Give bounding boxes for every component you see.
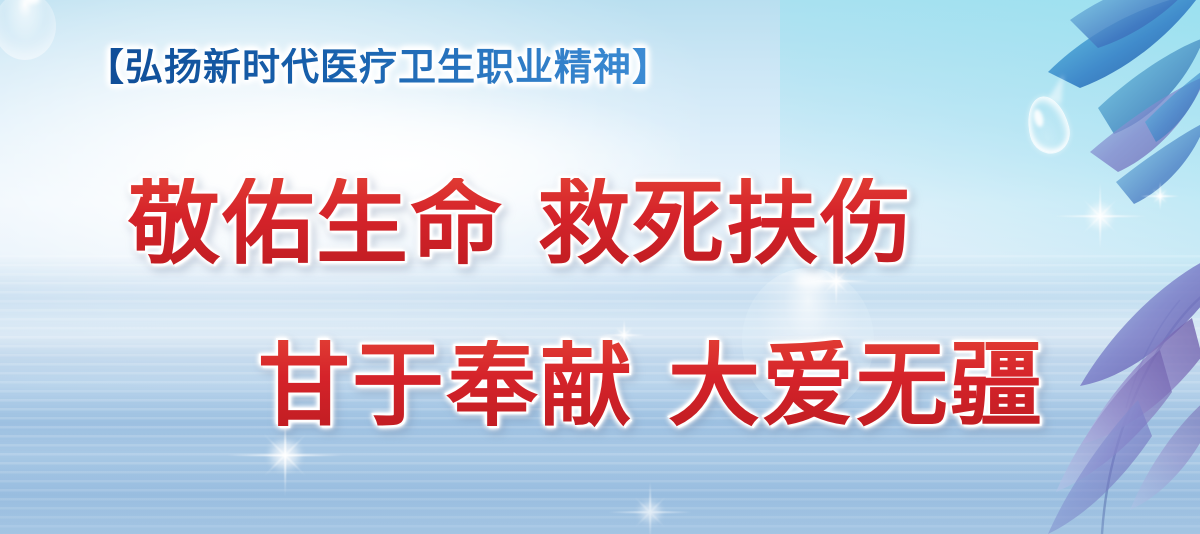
slogan-line-2: 甘于奉献 大爱无疆 xyxy=(258,340,1044,432)
background-bottom-shade xyxy=(0,464,1200,534)
health-slogan-banner: 【弘扬新时代医疗卫生职业精神】 敬佑生命 救死扶伤 甘于奉献 大爱无疆 xyxy=(0,0,1200,534)
page-kicker: 【弘扬新时代医疗卫生职业精神】 xyxy=(86,48,671,86)
slogan-line-1: 敬佑生命 救死扶伤 xyxy=(128,178,914,270)
